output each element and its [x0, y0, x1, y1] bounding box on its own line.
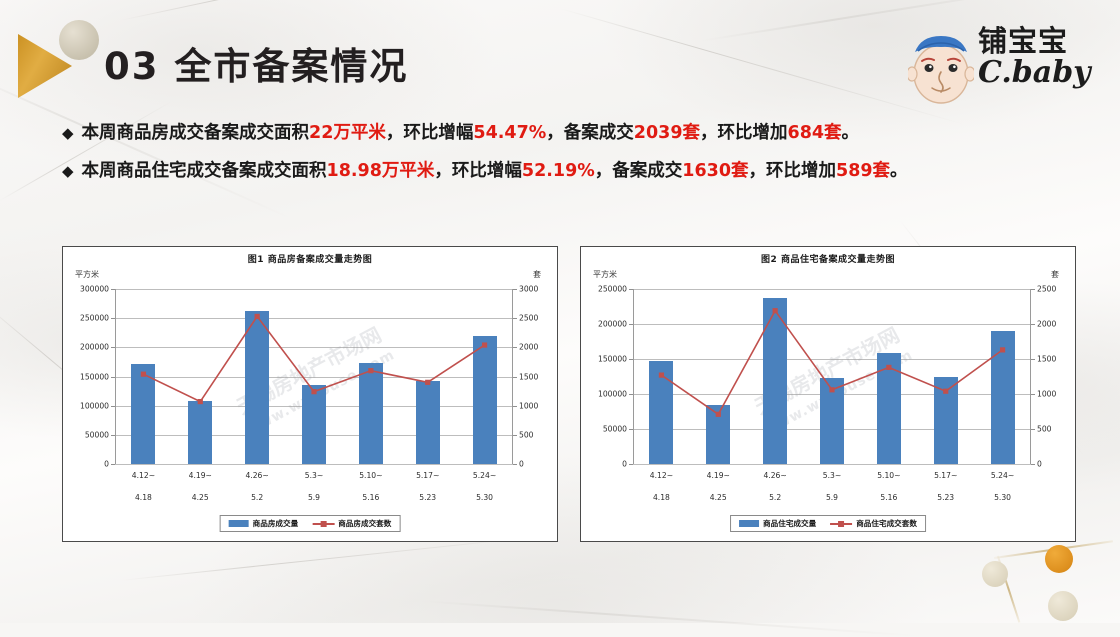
- y-axis-tick-label: 200000: [598, 320, 627, 329]
- x-axis-label-end: 4.25: [690, 494, 747, 502]
- bullet-highlight-value: 22万平米: [309, 123, 386, 143]
- x-axis-label-end: 5.9: [286, 494, 343, 502]
- chart-card-commodity-housing: 图1 商品房备案成交量走势图平方米套无锡房地产市场网www.wxhouse.co…: [62, 246, 558, 542]
- y2-axis-tick-label: 3000: [519, 285, 538, 294]
- logo-chinese-name: 铺宝宝: [978, 26, 1108, 56]
- legend-bar-swatch-icon: [229, 520, 249, 527]
- line-marker: [368, 368, 373, 373]
- line-series: [115, 289, 513, 464]
- x-axis-label: 4.19~4.25: [172, 472, 229, 501]
- bullet-highlight-value: 2039套: [634, 123, 700, 143]
- legend-item-bar[interactable]: 商品住宅成交量: [739, 518, 816, 529]
- x-axis-label: 5.24~5.30: [456, 472, 513, 501]
- bullet-highlight-value: 589套: [836, 161, 890, 181]
- y-axis-unit-left: 平方米: [75, 269, 99, 280]
- chart-legend: 商品房成交量商品房成交套数: [220, 515, 401, 532]
- y-axis-unit-right: 套: [533, 269, 541, 280]
- bullet-highlight-value: 54.47%: [473, 123, 546, 143]
- gridline: [115, 464, 513, 465]
- x-axis-label-end: 5.16: [342, 494, 399, 502]
- line-marker: [829, 387, 834, 392]
- y-axis-tick-label: 250000: [80, 314, 109, 323]
- marble-vein: [420, 600, 919, 637]
- decorative-dot: [982, 561, 1008, 587]
- legend-line-swatch-icon: [312, 520, 334, 527]
- bullet-highlight-value: 684套: [788, 123, 842, 143]
- x-axis-label-start: 5.17~: [416, 471, 439, 480]
- y-axis-tick-label: 100000: [598, 390, 627, 399]
- bullet-diamond-icon: ◆: [62, 160, 74, 183]
- x-axis-label: 4.19~4.25: [690, 472, 747, 501]
- bullet-highlight-value: 52.19%: [522, 161, 595, 181]
- x-axis-label-start: 5.17~: [934, 471, 957, 480]
- y2-axis-tick-label: 2500: [519, 314, 538, 323]
- y2-axis-tickmark: [1031, 394, 1035, 395]
- x-axis-label-end: 5.9: [804, 494, 861, 502]
- y-axis-tick-label: 0: [104, 460, 109, 469]
- legend-line-swatch-icon: [830, 520, 852, 527]
- x-axis-label: 5.24~5.30: [974, 472, 1031, 501]
- page-title: 03 全市备案情况: [104, 36, 408, 90]
- x-axis-label: 5.10~5.16: [342, 472, 399, 501]
- line-marker: [482, 342, 487, 347]
- y2-axis-tick-label: 2500: [1037, 285, 1056, 294]
- line-marker: [198, 399, 203, 404]
- y2-axis-tick-label: 500: [519, 430, 534, 439]
- y-axis-tick-label: 150000: [80, 372, 109, 381]
- decorative-dot: [1045, 545, 1073, 573]
- x-axis-label: 5.17~5.23: [917, 472, 974, 501]
- decorative-dot: [1048, 591, 1078, 621]
- title-area: 03 全市备案情况: [104, 36, 408, 90]
- x-axis-label-start: 5.24~: [473, 471, 496, 480]
- y2-axis-tickmark: [1031, 464, 1035, 465]
- legend-label: 商品住宅成交套数: [856, 518, 917, 529]
- x-axis-label-end: 4.25: [172, 494, 229, 502]
- line-marker: [311, 389, 316, 394]
- x-axis-label-end: 4.18: [115, 494, 172, 502]
- x-axis-label-end: 5.2: [229, 494, 286, 502]
- y-axis-tickmark: [629, 464, 633, 465]
- bullet-text-segment: 。: [890, 161, 908, 181]
- y2-axis-tick-label: 0: [1037, 460, 1042, 469]
- line-marker: [886, 365, 891, 370]
- x-axis-label-start: 4.19~: [707, 471, 730, 480]
- slide-canvas: 03 全市备案情况 铺宝宝 C.baby ◆本周商品房成交备案成交面积22万平米…: [0, 0, 1120, 623]
- line-marker: [659, 373, 664, 378]
- y-axis-tick-label: 0: [622, 460, 627, 469]
- x-axis-label-start: 5.3~: [823, 471, 841, 480]
- gridline: [633, 464, 1031, 465]
- line-marker: [255, 314, 260, 319]
- marble-vein: [120, 0, 414, 21]
- y2-axis-tickmark: [1031, 324, 1035, 325]
- x-axis-label-start: 4.26~: [245, 471, 268, 480]
- bullet-text-segment: 本周商品房成交备案成交面积: [82, 123, 310, 143]
- x-axis-label: 4.26~5.2: [229, 472, 286, 501]
- bullet-text: 本周商品房成交备案成交面积22万平米，环比增幅54.47%，备案成交2039套，…: [82, 122, 860, 146]
- x-axis-label-end: 5.23: [399, 494, 456, 502]
- x-axis-label-end: 5.30: [974, 494, 1031, 502]
- y-axis-tick-label: 250000: [598, 285, 627, 294]
- y-axis-tick-label: 100000: [80, 401, 109, 410]
- y-axis-unit-right: 套: [1051, 269, 1059, 280]
- y-axis-tick-label: 150000: [598, 355, 627, 364]
- logo-text: 铺宝宝 C.baby: [978, 26, 1108, 88]
- baby-face-icon: [908, 30, 974, 106]
- x-axis-label-end: 5.23: [917, 494, 974, 502]
- marble-vein: [120, 536, 538, 581]
- y-axis-tick-label: 300000: [80, 285, 109, 294]
- x-axis-label-start: 5.10~: [359, 471, 382, 480]
- bullet-highlight-value: 18.98万平米: [327, 161, 435, 181]
- y2-axis-tick-label: 2000: [1037, 320, 1056, 329]
- x-axis-label-start: 4.26~: [763, 471, 786, 480]
- decoration-bottom-right: [970, 533, 1120, 623]
- x-axis-label-start: 4.12~: [132, 471, 155, 480]
- line-marker: [1000, 347, 1005, 352]
- x-axis-label: 4.12~4.18: [633, 472, 690, 501]
- legend-label: 商品房成交套数: [338, 518, 391, 529]
- x-axis-label-start: 4.12~: [650, 471, 673, 480]
- x-axis-label-end: 5.2: [747, 494, 804, 502]
- legend-item-line[interactable]: 商品住宅成交套数: [830, 518, 917, 529]
- x-axis-label-start: 5.3~: [305, 471, 323, 480]
- x-axis-label-end: 5.16: [860, 494, 917, 502]
- y2-axis-tickmark: [1031, 429, 1035, 430]
- line-series: [633, 289, 1031, 464]
- x-axis-label: 5.17~5.23: [399, 472, 456, 501]
- y2-axis-tickmark: [513, 289, 517, 290]
- legend-label: 商品房成交量: [253, 518, 299, 529]
- line-marker: [141, 372, 146, 377]
- y-axis-tick-label: 50000: [603, 425, 627, 434]
- y-axis-tickmark: [111, 464, 115, 465]
- decorative-circle: [59, 20, 99, 60]
- y2-axis-tickmark: [513, 406, 517, 407]
- y2-axis-tick-label: 1000: [519, 401, 538, 410]
- x-axis-label: 5.10~5.16: [860, 472, 917, 501]
- y2-axis-tick-label: 0: [519, 460, 524, 469]
- plot-area: 无锡房地产市场网www.wxhouse.com05000010000015000…: [633, 289, 1031, 464]
- y-axis-tick-label: 50000: [85, 430, 109, 439]
- x-axis-label-start: 5.10~: [877, 471, 900, 480]
- bullet-text-segment: ，备案成交: [595, 161, 683, 181]
- x-axis-label: 5.3~5.9: [804, 472, 861, 501]
- bullet-text-segment: ，环比增加: [749, 161, 837, 181]
- y2-axis-tick-label: 500: [1037, 425, 1052, 434]
- x-axis-label-start: 4.19~: [189, 471, 212, 480]
- line-marker: [425, 380, 430, 385]
- bullet-highlight-value: 1630套: [682, 161, 748, 181]
- legend-bar-swatch-icon: [739, 520, 759, 527]
- bullet-text-segment: ，备案成交: [546, 123, 634, 143]
- line-marker: [716, 412, 721, 417]
- line-marker: [773, 308, 778, 313]
- line-marker: [943, 389, 948, 394]
- y2-axis-tickmark: [513, 435, 517, 436]
- y2-axis-tickmark: [513, 318, 517, 319]
- bullet-text-segment: ，环比增幅: [434, 161, 522, 181]
- marble-vein: [560, 8, 964, 125]
- y2-axis-tickmark: [1031, 359, 1035, 360]
- bullet-text-segment: ，环比增幅: [386, 123, 474, 143]
- y2-axis-tickmark: [1031, 289, 1035, 290]
- bullet-item: ◆本周商品住宅成交备案成交面积18.98万平米，环比增幅52.19%，备案成交1…: [62, 160, 1072, 184]
- x-axis-label: 4.12~4.18: [115, 472, 172, 501]
- chart-title: 图2 商品住宅备案成交量走势图: [581, 252, 1075, 265]
- chart-title: 图1 商品房备案成交量走势图: [63, 252, 557, 265]
- y2-axis-tick-label: 2000: [519, 343, 538, 352]
- x-axis-label: 4.26~5.2: [747, 472, 804, 501]
- bullet-text-segment: 本周商品住宅成交备案成交面积: [82, 161, 327, 181]
- x-axis-label-end: 5.30: [456, 494, 513, 502]
- bullet-item: ◆本周商品房成交备案成交面积22万平米，环比增幅54.47%，备案成交2039套…: [62, 122, 1072, 146]
- chart-legend: 商品住宅成交量商品住宅成交套数: [730, 515, 926, 532]
- y2-axis-tickmark: [513, 347, 517, 348]
- x-axis-label: 5.3~5.9: [286, 472, 343, 501]
- y-axis-unit-left: 平方米: [593, 269, 617, 280]
- y-axis-tick-label: 200000: [80, 343, 109, 352]
- y2-axis-tickmark: [513, 464, 517, 465]
- logo-english-name: C.baby: [978, 58, 1108, 88]
- bullet-text: 本周商品住宅成交备案成交面积18.98万平米，环比增幅52.19%，备案成交16…: [82, 160, 908, 184]
- bullet-diamond-icon: ◆: [62, 122, 74, 145]
- bullet-list: ◆本周商品房成交备案成交面积22万平米，环比增幅54.47%，备案成交2039套…: [62, 122, 1072, 197]
- legend-item-bar[interactable]: 商品房成交量: [229, 518, 299, 529]
- plot-area: 无锡房地产市场网www.wxhouse.com05000010000015000…: [115, 289, 513, 464]
- x-axis-label-end: 4.18: [633, 494, 690, 502]
- bullet-text-segment: ，环比增加: [700, 123, 788, 143]
- brand-logo: 铺宝宝 C.baby: [906, 22, 1106, 118]
- y2-axis-tick-label: 1500: [519, 372, 538, 381]
- bullet-text-segment: 。: [842, 123, 860, 143]
- chart-card-residential: 图2 商品住宅备案成交量走势图平方米套无锡房地产市场网www.wxhouse.c…: [580, 246, 1076, 542]
- y2-axis-tick-label: 1000: [1037, 390, 1056, 399]
- y2-axis-tick-label: 1500: [1037, 355, 1056, 364]
- legend-label: 商品住宅成交量: [763, 518, 816, 529]
- x-axis-label-start: 5.24~: [991, 471, 1014, 480]
- legend-item-line[interactable]: 商品房成交套数: [312, 518, 391, 529]
- y2-axis-tickmark: [513, 377, 517, 378]
